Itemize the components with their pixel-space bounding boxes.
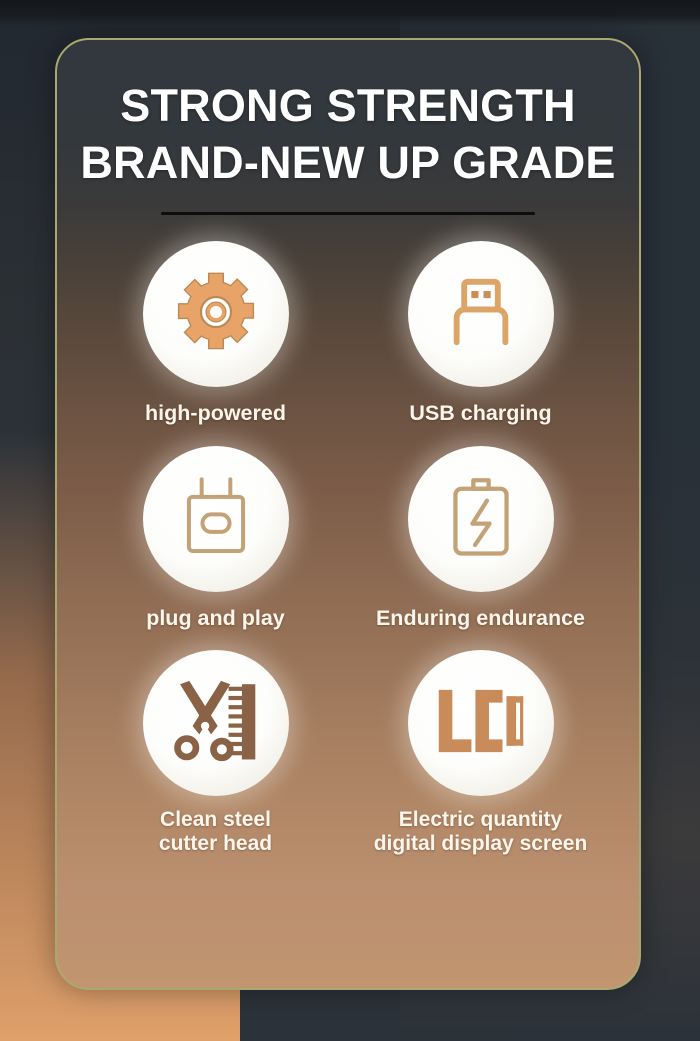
feature-item-high-powered: high-powered — [83, 241, 348, 426]
feature-label: high-powered — [145, 401, 286, 426]
icon-badge — [408, 241, 554, 387]
poster-background: STRONG STRENGTH BRAND-NEW UP GRADE — [0, 0, 700, 1041]
icon-badge — [143, 446, 289, 592]
scissors-comb-icon — [170, 679, 262, 768]
feature-label: Enduring endurance — [376, 606, 585, 631]
page-title: STRONG STRENGTH BRAND-NEW UP GRADE — [57, 40, 639, 191]
headline-line-1: STRONG STRENGTH — [75, 78, 621, 135]
feature-grid: high-powered — [57, 241, 639, 856]
background-top-band — [0, 0, 700, 26]
feature-item-usb-charging: USB charging — [348, 241, 613, 426]
icon-badge — [143, 650, 289, 796]
icon-badge — [408, 650, 554, 796]
gear-icon — [173, 269, 259, 360]
icon-badge — [408, 446, 554, 592]
usb-connector-icon — [439, 270, 523, 359]
battery-bolt-icon — [445, 470, 517, 567]
feature-card: STRONG STRENGTH BRAND-NEW UP GRADE — [55, 38, 641, 990]
feature-label: Electric quantity digital display screen — [374, 808, 588, 856]
feature-label: Clean steel cutter head — [159, 808, 272, 856]
icon-badge — [143, 241, 289, 387]
title-divider — [161, 212, 535, 215]
feature-label: plug and play — [146, 606, 285, 631]
power-plug-adapter-icon — [176, 473, 256, 564]
feature-item-clean-steel-cutter-head: Clean steel cutter head — [83, 650, 348, 856]
feature-item-enduring-endurance: Enduring endurance — [348, 446, 613, 631]
feature-label: USB charging — [409, 401, 551, 426]
feature-item-lcd-display: Electric quantity digital display screen — [348, 650, 613, 856]
lcd-display-icon — [434, 685, 528, 762]
headline-line-2: BRAND-NEW UP GRADE — [75, 135, 621, 192]
feature-item-plug-and-play: plug and play — [83, 446, 348, 631]
